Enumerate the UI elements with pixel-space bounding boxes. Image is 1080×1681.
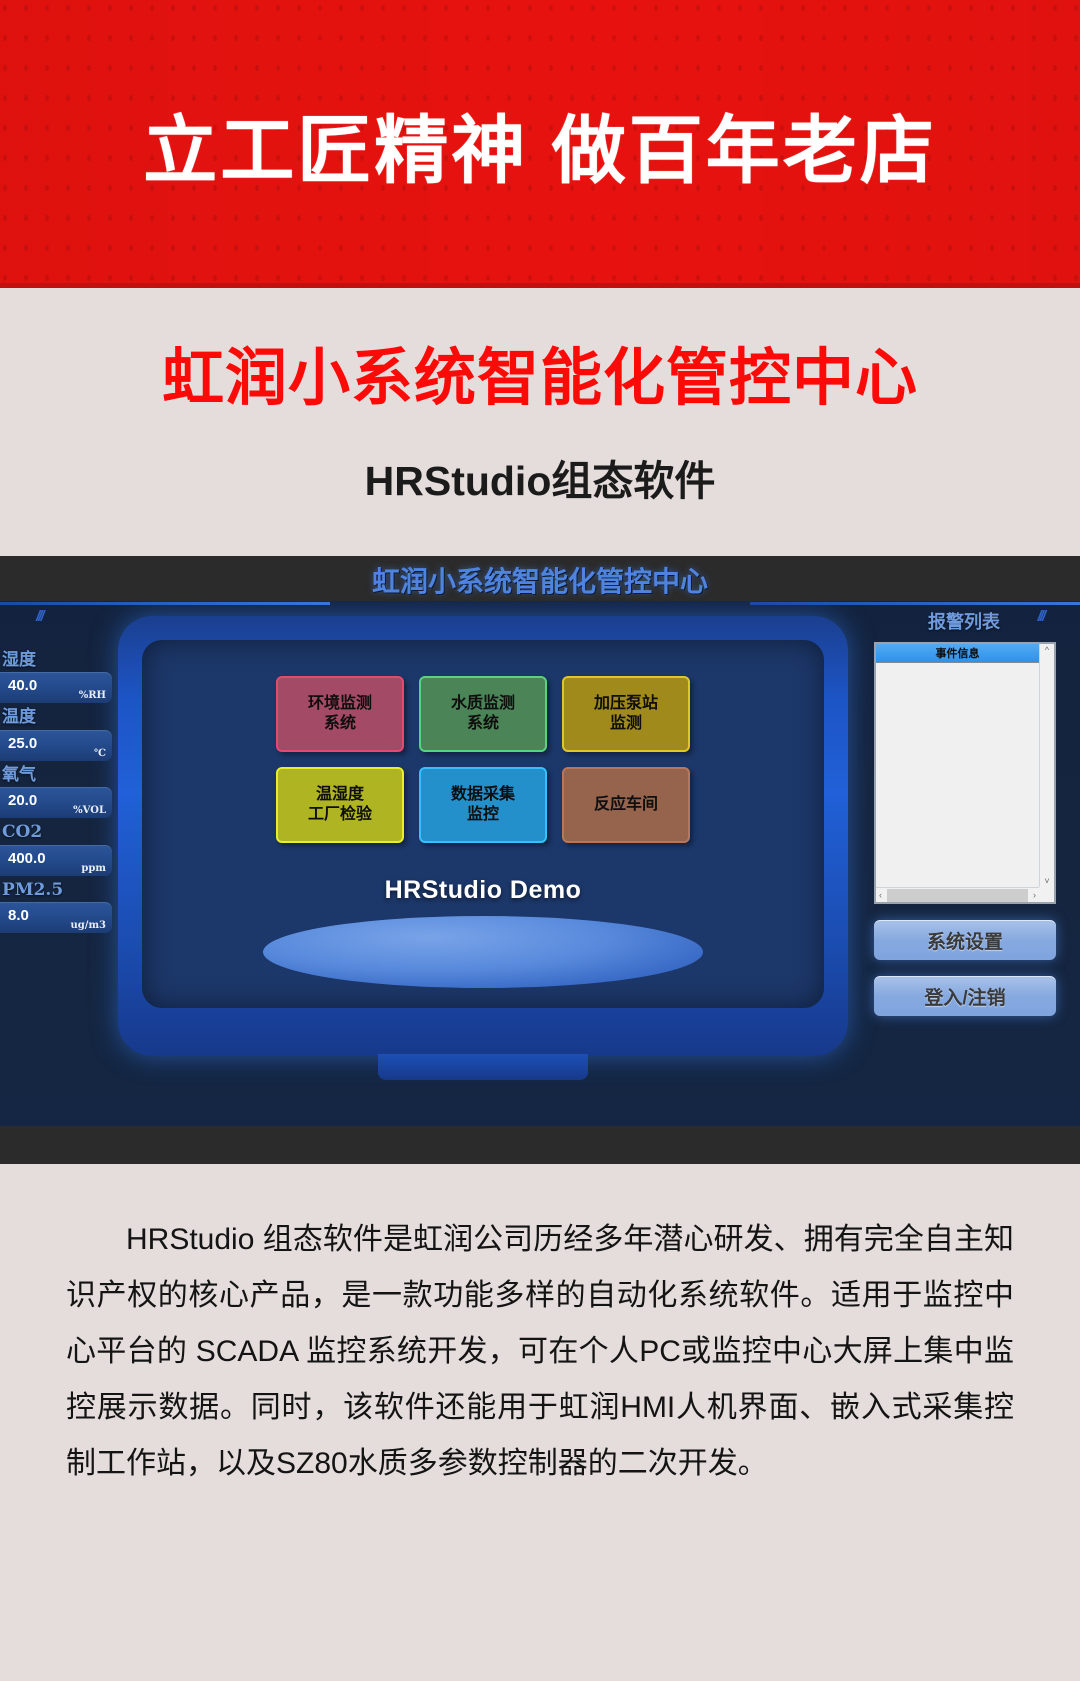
hmi-screenshot: /// /// 虹润小系统智能化管控中心 2025/04/16 星期三 09:0… [0, 556, 1080, 1164]
banner-bottom-rule [0, 283, 1080, 288]
menu-button-label: 加压泵站 监测 [594, 694, 658, 734]
demo-label: HRStudio Demo [385, 876, 582, 905]
gauge-temperature: 温度 25.0 ℃ [0, 707, 118, 760]
gauge-unit: ppm [81, 863, 106, 874]
description-paragraph: HRStudio 组态软件是虹润公司历经多年潜心研发、拥有完全自主知识产权的核心… [66, 1212, 1014, 1492]
chevron-right-decor-icon: /// [1037, 608, 1044, 625]
scroll-left-icon[interactable]: ‹ [876, 889, 885, 901]
hmi-footer-bar [0, 1126, 1080, 1164]
alarm-column-header: 事件信息 [876, 644, 1039, 663]
system-settings-button[interactable]: 系统设置 [874, 920, 1056, 960]
gauge-oxygen: 氧气 20.0 %VOL [0, 765, 118, 818]
title-block: 虹润小系统智能化管控中心 HRStudio组态软件 [0, 288, 1080, 556]
gauge-readout[interactable]: 400.0 ppm [0, 845, 112, 876]
menu-button-grid: 环境监测 系统 水质监测 系统 加压泵站 监测 温湿度 工厂检验 数据采集 监控 [276, 676, 690, 843]
alarm-list-body[interactable] [876, 663, 1039, 902]
gauge-unit: ℃ [94, 748, 106, 759]
page-subtitle: HRStudio组态软件 [365, 447, 716, 507]
page-title: 虹润小系统智能化管控中心 [162, 327, 918, 417]
alarm-horizontal-scrollbar[interactable]: ‹ › [876, 887, 1039, 902]
promo-page: 立工匠精神 做百年老店 虹润小系统智能化管控中心 HRStudio组态软件 //… [0, 0, 1080, 1681]
menu-button-label: 反应车间 [594, 795, 658, 815]
gauge-value: 25.0 [8, 735, 37, 752]
menu-button-temp-humidity-factory[interactable]: 温湿度 工厂检验 [276, 767, 404, 843]
gauge-value: 20.0 [8, 792, 37, 809]
gauge-value: 8.0 [8, 907, 29, 924]
gauge-label: 氧气 [0, 765, 118, 785]
alarm-panel: 报警列表 事件信息 ^ ˅ ‹ › 系统设置 登入/注销 [848, 608, 1080, 1016]
menu-button-label: 环境监测 系统 [308, 694, 372, 734]
menu-button-label: 数据采集 监控 [451, 785, 515, 825]
menu-button-label: 水质监测 系统 [451, 694, 515, 734]
scroll-right-icon[interactable]: › [1030, 889, 1039, 901]
scroll-up-icon[interactable]: ^ [1042, 644, 1052, 656]
sensor-sidebar: 湿度 40.0 %RH 温度 25.0 ℃ 氧气 20.0 %VOL [0, 646, 118, 933]
monitor-screen: 环境监测 系统 水质监测 系统 加压泵站 监测 温湿度 工厂检验 数据采集 监控 [142, 640, 824, 1008]
gauge-readout[interactable]: 25.0 ℃ [0, 730, 112, 761]
gauge-readout[interactable]: 40.0 %RH [0, 672, 112, 703]
gauge-co2: CO2 400.0 ppm [0, 822, 118, 875]
gauge-label: CO2 [0, 822, 118, 842]
menu-button-reaction-workshop[interactable]: 反应车间 [562, 767, 690, 843]
gauge-value: 400.0 [8, 850, 46, 867]
gauge-humidity: 湿度 40.0 %RH [0, 650, 118, 703]
scroll-thumb[interactable] [887, 889, 1028, 902]
menu-button-pump-station[interactable]: 加压泵站 监测 [562, 676, 690, 752]
description-block: HRStudio 组态软件是虹润公司历经多年潜心研发、拥有完全自主知识产权的核心… [0, 1164, 1080, 1681]
monitor-stand [378, 1054, 588, 1080]
login-logout-button[interactable]: 登入/注销 [874, 976, 1056, 1016]
gauge-unit: %VOL [73, 805, 106, 816]
scroll-down-icon[interactable]: ˅ [1041, 875, 1052, 887]
gauge-label: 湿度 [0, 650, 118, 670]
alarm-vertical-scrollbar[interactable]: ^ ˅ [1039, 644, 1054, 887]
alarm-list[interactable]: 事件信息 ^ ˅ ‹ › [874, 642, 1056, 904]
menu-button-data-acquisition[interactable]: 数据采集 监控 [419, 767, 547, 843]
gauge-label: PM2.5 [0, 880, 118, 900]
menu-button-water-quality[interactable]: 水质监测 系统 [419, 676, 547, 752]
monitor-frame: 环境监测 系统 水质监测 系统 加压泵站 监测 温湿度 工厂检验 数据采集 监控 [118, 616, 848, 1056]
hmi-title: 虹润小系统智能化管控中心 [372, 560, 708, 600]
chevron-left-decor-icon: /// [36, 608, 43, 625]
stage-ellipse-decor [263, 916, 703, 988]
gauge-readout[interactable]: 20.0 %VOL [0, 787, 112, 818]
menu-button-environment[interactable]: 环境监测 系统 [276, 676, 404, 752]
gauge-readout[interactable]: 8.0 ug/m3 [0, 902, 112, 933]
red-banner: 立工匠精神 做百年老店 [0, 0, 1080, 288]
banner-headline: 立工匠精神 做百年老店 [143, 91, 937, 198]
gauge-unit: %RH [79, 690, 106, 701]
menu-button-label: 温湿度 工厂检验 [308, 785, 372, 825]
scrollbar-corner [1039, 887, 1054, 902]
gauge-unit: ug/m3 [71, 920, 106, 931]
gauge-pm25: PM2.5 8.0 ug/m3 [0, 880, 118, 933]
gauge-value: 40.0 [8, 677, 37, 694]
gauge-label: 温度 [0, 707, 118, 727]
